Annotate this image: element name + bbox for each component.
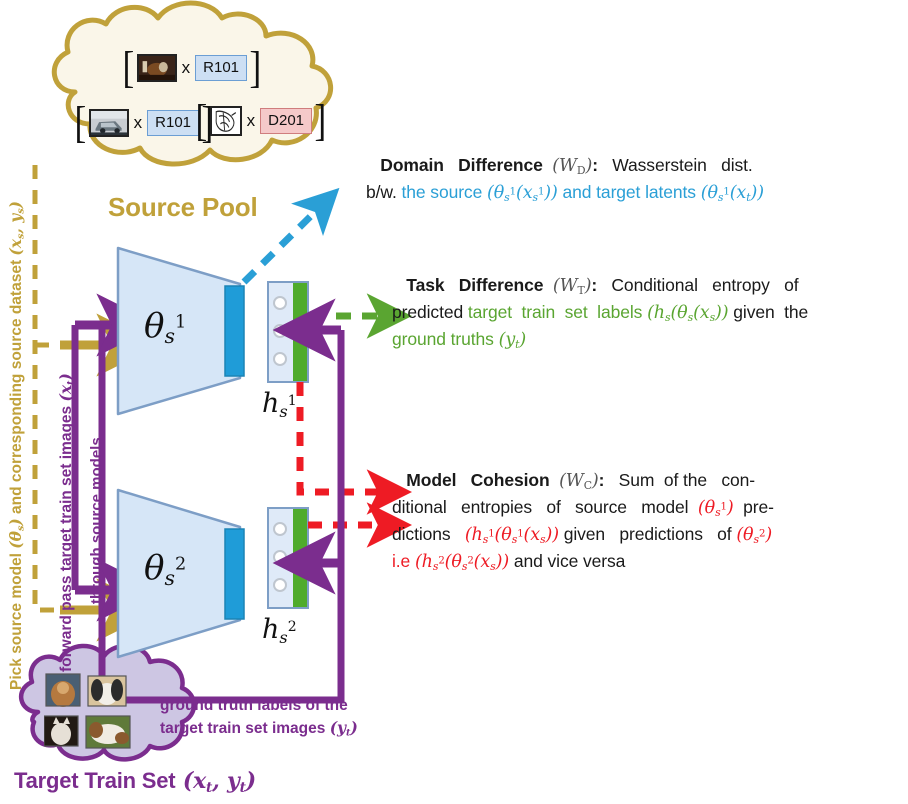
classifier-h-s1-label: hs1 xyxy=(262,388,297,421)
model-chip-r101[interactable]: R101 xyxy=(195,55,247,81)
model-cohesion-title: Model Cohesion xyxy=(392,470,559,490)
forward-pass-label: forward pass target train set images (xt… xyxy=(56,373,77,672)
figure-canvas: [ x R101 ] [ x R101 ] [ xyxy=(0,0,908,804)
bracket-close-icon: ] xyxy=(249,50,261,85)
painting-thumbnail xyxy=(137,54,177,82)
classifier-h-s1-shape xyxy=(268,282,308,382)
task-difference-title: Task Difference xyxy=(392,275,553,295)
task-difference-description: Task Difference (WT): Conditional entrop… xyxy=(392,273,900,354)
dog-thumbnail-1 xyxy=(46,674,80,707)
dog-thumbnail-2 xyxy=(88,676,126,706)
domain-difference-body: b/w. the source (θs1(xs1)) and target la… xyxy=(366,182,764,202)
target-train-set-label: Target Train Set (xt, yt) xyxy=(14,768,256,796)
task-difference-body: predicted target train set labels (hs(θs… xyxy=(392,302,808,349)
red-dashed-arrow xyxy=(300,382,382,525)
ground-truth-line-2: target train set images (yt) xyxy=(160,717,410,741)
times-operator: x xyxy=(182,58,191,78)
bracket-open-icon: [ xyxy=(74,105,86,140)
pick-source-model-label: Pick source model (θs) and corresponding… xyxy=(6,201,27,690)
dog-thumbnail-3 xyxy=(86,716,130,748)
domain-difference-title: Domain Difference xyxy=(366,155,552,175)
target-train-set-text: Target Train Set xyxy=(14,768,175,793)
ground-truth-labels-caption: ground truth labels of the target train … xyxy=(160,695,410,741)
times-operator: x xyxy=(247,111,256,131)
encoder-theta-s2-label: θs2 xyxy=(144,548,186,590)
source-pool-item-3[interactable]: [ x D201 ] xyxy=(193,103,329,138)
sketch-thumbnail xyxy=(210,106,242,136)
classifier-h-s2-label: hs2 xyxy=(262,614,297,647)
source-pool-item-1[interactable]: [ x R101 ] xyxy=(120,50,264,85)
bracket-open-icon: [ xyxy=(122,50,134,85)
encoder-theta-s1-label: θs1 xyxy=(144,306,186,348)
model-cohesion-description: Model Cohesion (WC): Sum of the con- dit… xyxy=(392,468,902,576)
ground-truth-line-1: ground truth labels of the xyxy=(160,695,410,717)
times-operator: x xyxy=(134,113,143,133)
model-cohesion-body: ditional entropies of source model (θs1)… xyxy=(392,497,774,571)
car-thumbnail xyxy=(89,109,129,137)
source-pool-label: Source Pool xyxy=(108,192,258,223)
bracket-open-icon: [ xyxy=(195,103,207,138)
model-chip-d201[interactable]: D201 xyxy=(260,108,312,134)
classifier-h-s2-shape xyxy=(268,508,308,608)
model-chip-r101[interactable]: R101 xyxy=(147,110,199,136)
domain-difference-description: Domain Difference (WD): Wasserstein dist… xyxy=(366,153,900,207)
bracket-close-icon: ] xyxy=(314,103,326,138)
cat-thumbnail xyxy=(44,716,78,746)
target-cloud-thumbnails xyxy=(44,672,164,756)
through-source-models-label: through source models xyxy=(88,437,105,604)
ground-truth-feedback-path xyxy=(110,330,341,700)
